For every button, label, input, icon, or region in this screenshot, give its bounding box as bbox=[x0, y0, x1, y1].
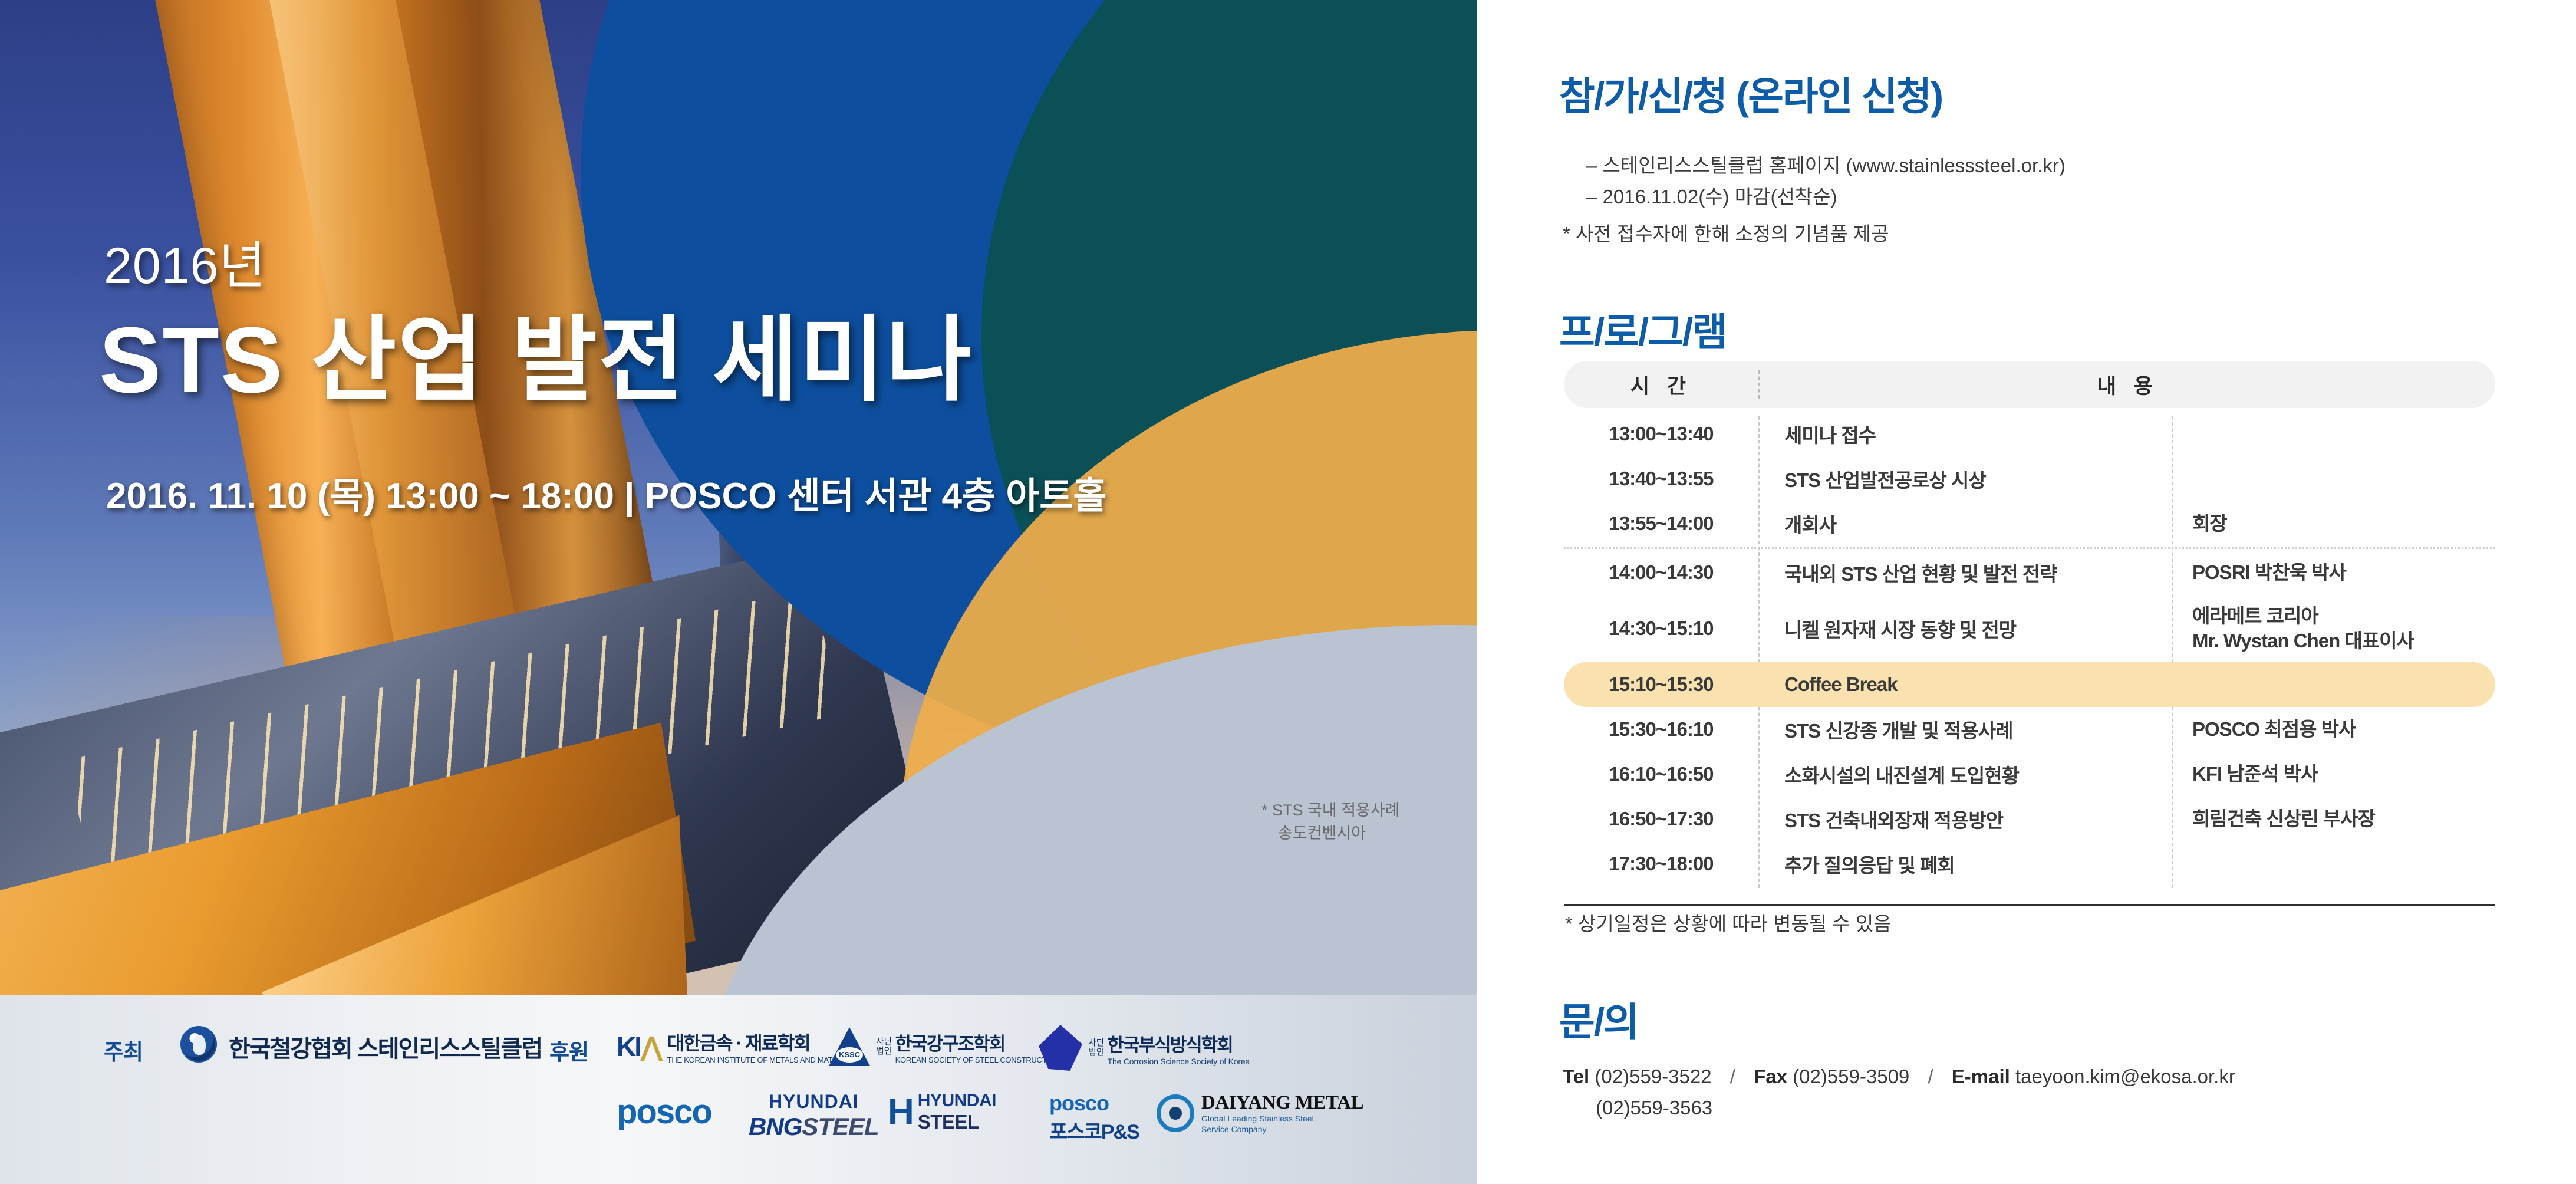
table-row: 17:30~18:00 추가 질의응답 및 폐회 bbox=[1564, 841, 2495, 886]
row-speaker: 희림건축 신상린 부사장 bbox=[2172, 807, 2495, 831]
row-time: 13:55~14:00 bbox=[1564, 512, 1758, 535]
tel-value: (02)559-3522 bbox=[1595, 1065, 1711, 1087]
css-name-ko: 한국부식방식학회 bbox=[1108, 1030, 1250, 1057]
kssc-name-ko: 한국강구조학회 bbox=[895, 1029, 1060, 1055]
column-header-time: 시 간 bbox=[1564, 370, 1758, 400]
logo-posco: posco bbox=[617, 1092, 711, 1132]
row-time: 16:10~16:50 bbox=[1564, 763, 1758, 785]
pns-line1: posco bbox=[1049, 1091, 1139, 1116]
row-speaker: KFI 남준석 박사 bbox=[2172, 762, 2495, 787]
poster-right-panel: 참/가/신/청 (온라인 신청) – 스테인리스스틸클럽 홈페이지 (www.s… bbox=[1477, 0, 2576, 1184]
row-content: 국내외 STS 산업 현황 및 발전 전략 bbox=[1758, 558, 2172, 587]
row-time: 13:00~13:40 bbox=[1564, 423, 1758, 445]
column-header-content: 내 용 bbox=[1761, 370, 2495, 400]
fax-value: (02)559-3509 bbox=[1793, 1065, 1909, 1087]
table-row: 16:10~16:50 소화시설의 내진설계 도입현황 KFI 남준석 박사 bbox=[1564, 752, 2495, 797]
row-time: 17:30~18:00 bbox=[1564, 853, 1758, 875]
table-row: 15:30~16:10 STS 신강종 개발 및 적용사례 POSCO 최점용 … bbox=[1564, 707, 2495, 752]
table-row: 13:00~13:40 세미나 접수 bbox=[1564, 412, 2495, 456]
poster-title: STS 산업 발전 세미나 bbox=[99, 284, 973, 419]
row-group-separator bbox=[1564, 547, 2495, 549]
logo-hyundai-steel: H HYUNDAI STEEL bbox=[888, 1091, 996, 1133]
row-time: 14:30~15:10 bbox=[1564, 617, 1758, 640]
program-note: * 상기일정은 상황에 따라 변동될 수 있음 bbox=[1565, 908, 1892, 936]
tel-label: Tel bbox=[1563, 1065, 1589, 1087]
logo-kim: KI⋀ 대한금속 · 재료학회 THE KOREAN INSTITUTE OF … bbox=[617, 1028, 859, 1064]
host-organization-name: 한국철강협회 스테인리스스틸클럽 bbox=[229, 1030, 542, 1064]
row-time: 13:40~13:55 bbox=[1564, 468, 1758, 490]
daiyang-target-icon bbox=[1157, 1094, 1194, 1132]
row-speaker: POSCO 최점용 박사 bbox=[2172, 717, 2495, 742]
row-content: 소화시설의 내진설계 도입현황 bbox=[1758, 760, 2172, 788]
contact-separator-2: / bbox=[1915, 1065, 1946, 1087]
email-label: E-mail bbox=[1952, 1065, 2010, 1087]
program-table-bottom-rule bbox=[1564, 904, 2495, 906]
poster-subtitle-datetime-venue: 2016. 11. 10 (목) 13:00 ~ 18:00 | POSCO 센… bbox=[106, 466, 1106, 519]
row-content: Coffee Break bbox=[1758, 673, 2172, 696]
contact-details: Tel (02)559-3522 / Fax (02)559-3509 / E-… bbox=[1563, 1061, 2235, 1124]
bng-line2-light: STEEL bbox=[802, 1113, 878, 1140]
row-content: 니켈 원자재 시장 동향 및 전망 bbox=[1758, 614, 2172, 643]
contact-separator-1: / bbox=[1717, 1065, 1748, 1087]
row-time: 15:30~16:10 bbox=[1564, 718, 1758, 741]
row-content: 추가 질의응답 및 폐회 bbox=[1758, 850, 2172, 878]
section-heading-program: 프/로/그/램 bbox=[1559, 301, 1727, 357]
row-content: STS 건축내외장재 적용방안 bbox=[1758, 805, 2172, 833]
corrosion-society-diamond-icon bbox=[1039, 1025, 1082, 1071]
row-time: 15:10~15:30 bbox=[1564, 673, 1758, 696]
daiyang-line2: Global Leading Stainless Steel bbox=[1201, 1114, 1363, 1124]
photo-credit-line1: * STS 국내 적용사례 bbox=[1261, 801, 1400, 819]
kssc-name-en: KOREAN SOCIETY OF STEEL CONSTRUCTION bbox=[895, 1055, 1060, 1064]
section-heading-application: 참/가/신/청 (온라인 신청) bbox=[1559, 65, 1942, 121]
table-row: 13:55~14:00 개회사 회장 bbox=[1564, 501, 2495, 546]
fax-label: Fax bbox=[1754, 1065, 1787, 1087]
table-row: 13:40~13:55 STS 산업발전공로상 시상 bbox=[1564, 456, 2495, 501]
bng-line1: HYUNDAI bbox=[749, 1091, 879, 1113]
row-time: 14:00~14:30 bbox=[1564, 561, 1758, 584]
table-row: 16:50~17:30 STS 건축내외장재 적용방안 희림건축 신상린 부사장 bbox=[1564, 797, 2495, 841]
photo-credit-line2: 송도컨벤시아 bbox=[1261, 822, 1456, 845]
css-prefix: 사단법인 bbox=[1088, 1038, 1105, 1057]
row-content: STS 산업발전공로상 시상 bbox=[1758, 465, 2172, 493]
application-info-list: – 스테인리스스틸클럽 홈페이지 (www.stainlesssteel.or.… bbox=[1563, 150, 2506, 213]
daiyang-line1: DAIYANG METAL bbox=[1201, 1092, 1363, 1114]
application-item-deadline: – 2016.11.02(수) 마감(선착순) bbox=[1586, 181, 2506, 212]
program-table-header: 시 간 내 용 bbox=[1564, 361, 2495, 408]
poster-left-panel: 2016년 STS 산업 발전 세미나 2016. 11. 10 (목) 13:… bbox=[0, 0, 1477, 1184]
bng-line2-bold: BNG bbox=[749, 1113, 802, 1140]
logo-posco-pns: posco 포스코P&S bbox=[1049, 1091, 1139, 1144]
logo-hyundai-bng-steel: HYUNDAI BNGSTEEL bbox=[749, 1091, 879, 1141]
row-speaker: 에라메트 코리아 Mr. Wystan Chen 대표이사 bbox=[2172, 604, 2495, 653]
ksa-emblem-icon bbox=[180, 1026, 217, 1063]
table-row: 14:00~14:30 국내외 STS 산업 현황 및 발전 전략 POSRI … bbox=[1564, 550, 2495, 595]
row-content: STS 신강종 개발 및 적용사례 bbox=[1758, 715, 2172, 744]
hsteel-line2: STEEL bbox=[918, 1111, 996, 1133]
application-item-homepage: – 스테인리스스틸클럽 홈페이지 (www.stainlesssteel.or.… bbox=[1586, 150, 2506, 181]
section-heading-contact: 문/의 bbox=[1559, 991, 1638, 1047]
hyundai-h-mark-icon: H bbox=[888, 1097, 914, 1128]
host-label: 주최 bbox=[104, 1034, 143, 1066]
program-table-body: 13:00~13:40 세미나 접수 13:40~13:55 STS 산업발전공… bbox=[1564, 412, 2495, 886]
kim-mark-icon: KI⋀ bbox=[617, 1031, 661, 1063]
table-row: 14:30~15:10 니켈 원자재 시장 동향 및 전망 에라메트 코리아 M… bbox=[1564, 595, 2495, 662]
tel-value-secondary: (02)559-3563 bbox=[1563, 1093, 2235, 1124]
row-speaker: POSRI 박찬욱 박사 bbox=[2172, 560, 2495, 585]
corporate-sponsor-row: posco HYUNDAI BNGSTEEL H HYUNDAI STEEL p… bbox=[0, 1084, 1477, 1155]
program-table: 시 간 내 용 13:00~13:40 세미나 접수 13:40~13:55 S… bbox=[1564, 361, 2495, 906]
kssc-prefix: 사단법인 bbox=[876, 1037, 892, 1056]
row-content: 개회사 bbox=[1758, 509, 2172, 538]
sponsor-label: 후원 bbox=[549, 1034, 588, 1066]
application-note: * 사전 접수자에 한해 소정의 기념품 제공 bbox=[1563, 218, 1889, 246]
photo-credit: * STS 국내 적용사례 송도컨벤시아 bbox=[1261, 799, 1456, 845]
logo-corrosion-society: 사단법인 한국부식방식학회 The Corrosion Science Soci… bbox=[1039, 1025, 1250, 1071]
host-and-sponsor-row: 주최 한국철강협회 스테인리스스틸클럽 후원 KI⋀ 대한금속 · 재료학회 T… bbox=[0, 1019, 1477, 1073]
email-value[interactable]: taeyoon.kim@ekosa.or.kr bbox=[2015, 1065, 2235, 1087]
row-time: 16:50~17:30 bbox=[1564, 808, 1758, 830]
table-row-coffee-break: 15:10~15:30 Coffee Break bbox=[1564, 662, 2495, 707]
daiyang-line3: Service Company bbox=[1201, 1124, 1363, 1135]
logo-kssc: 사단법인 한국강구조학회 KOREAN SOCIETY OF STEEL CON… bbox=[829, 1027, 1059, 1066]
pns-line2: 포스코P&S bbox=[1049, 1116, 1139, 1144]
poster-root: 2016년 STS 산업 발전 세미나 2016. 11. 10 (목) 13:… bbox=[0, 0, 2576, 1184]
logo-daiyang-metal: DAIYANG METAL Global Leading Stainless S… bbox=[1157, 1092, 1363, 1134]
css-name-en: The Corrosion Science Society of Korea bbox=[1108, 1057, 1250, 1066]
row-content: 세미나 접수 bbox=[1758, 420, 2172, 448]
row-speaker: 회장 bbox=[2172, 511, 2495, 536]
hsteel-line1: HYUNDAI bbox=[918, 1091, 996, 1111]
kssc-triangle-icon bbox=[829, 1027, 870, 1066]
